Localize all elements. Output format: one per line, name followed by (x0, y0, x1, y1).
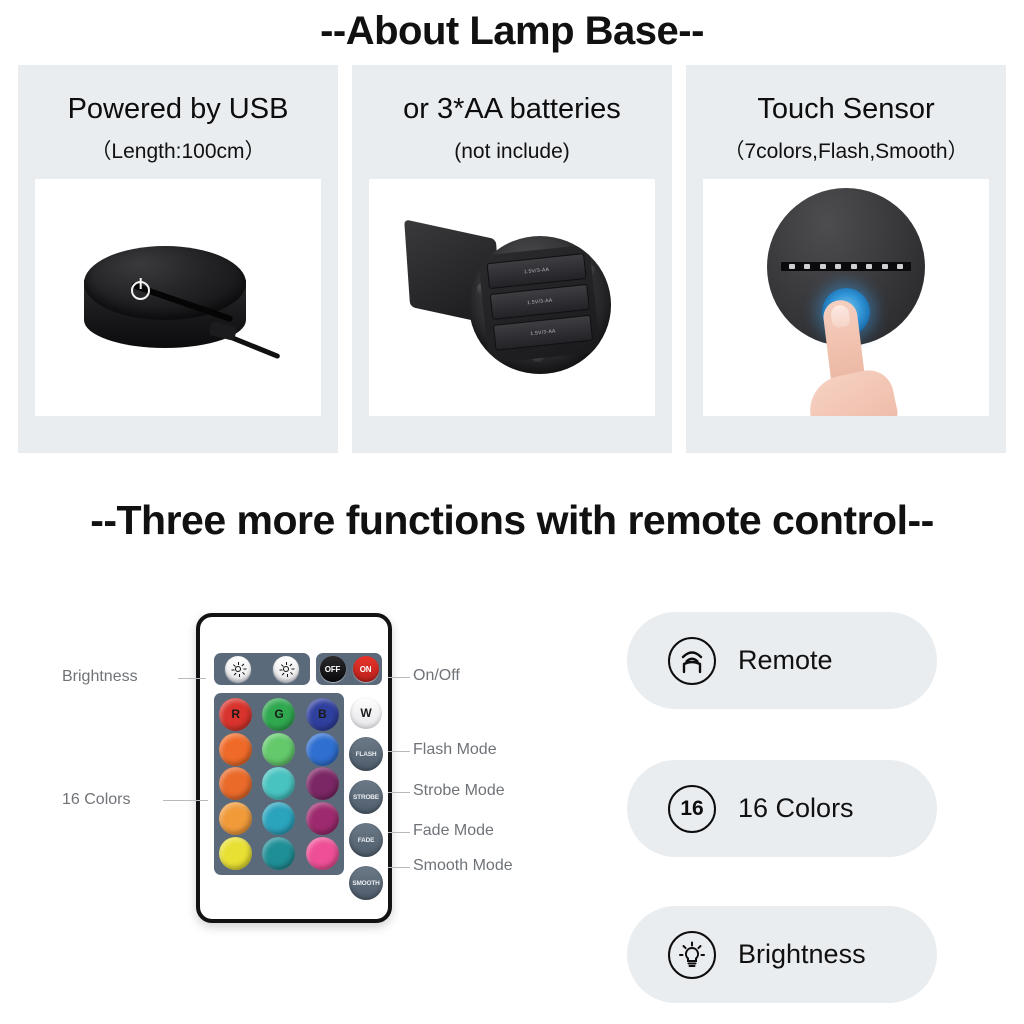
color-button-12[interactable] (219, 837, 252, 870)
remote-signal-icon (668, 637, 716, 685)
panel-powered-by-usb: Powered by USB （Length:100cm） (18, 65, 338, 453)
led-chip-icon (882, 264, 888, 269)
color-button-6[interactable] (219, 767, 252, 800)
color-button-10[interactable] (262, 802, 295, 835)
power-button-pad: OFF ON (316, 653, 382, 685)
feature-pill-16-colors[interactable]: 16 16 Colors (627, 760, 937, 857)
led-chip-icon (804, 264, 810, 269)
callout-smooth-mode: Smooth Mode (413, 857, 513, 875)
callout-strobe-mode: Strobe Mode (413, 782, 505, 800)
color-button-3[interactable] (219, 733, 252, 766)
touch-sensor-photo (703, 179, 989, 416)
color-button-13[interactable] (262, 837, 295, 870)
flash-mode-button[interactable]: FLASH (349, 737, 383, 771)
lamp-base-usb-photo (35, 179, 321, 416)
strobe-mode-button[interactable]: STROBE (349, 780, 383, 814)
panel-subtitle: （7colors,Flash,Smooth） (723, 141, 968, 162)
color-button-4[interactable] (262, 733, 295, 766)
color-button-grid: RGB (214, 693, 344, 875)
feature-pill-label: 16 Colors (738, 793, 854, 824)
battery-slot: 1.5V/3-AA (493, 314, 593, 350)
panel-title: Touch Sensor (757, 95, 934, 124)
feature-pill-label: Brightness (738, 939, 866, 970)
callout-brightness: Brightness (62, 668, 138, 686)
panel-aa-batteries: or 3*AA batteries (not include) 1.5V/3-A… (352, 65, 672, 453)
leader-line (388, 751, 410, 752)
lightbulb-icon (668, 931, 716, 979)
sun-bright-icon (232, 663, 245, 676)
callout-on-off: On/Off (413, 667, 460, 685)
callout-16-colors: 16 Colors (62, 791, 130, 809)
color-button-7[interactable] (262, 767, 295, 800)
leader-line (178, 678, 206, 679)
fingernail (830, 304, 851, 328)
section-title-remote-functions: --Three more functions with remote contr… (0, 497, 1024, 544)
hand-illustration (804, 366, 901, 416)
battery-slot: 1.5V/3-AA (490, 283, 590, 319)
panel-subtitle: （Length:100cm） (90, 141, 265, 162)
color-button-14[interactable] (306, 837, 339, 870)
led-chip-icon (820, 264, 826, 269)
color-button-b[interactable]: B (306, 698, 339, 731)
battery-compartment-photo: 1.5V/3-AA 1.5V/3-AA 1.5V/3-AA (369, 179, 655, 416)
leader-line (163, 800, 208, 801)
brightness-up-button[interactable] (225, 656, 251, 682)
led-chip-icon (835, 264, 841, 269)
page-title-about-lamp-base: --About Lamp Base-- (0, 9, 1024, 54)
color-button-8[interactable] (306, 767, 339, 800)
power-icon (131, 281, 150, 300)
panel-title: Powered by USB (68, 95, 289, 124)
callout-flash-mode: Flash Mode (413, 741, 497, 759)
led-strip-slot (781, 262, 911, 271)
leader-line (388, 792, 410, 793)
lamp-base-top (84, 246, 246, 320)
off-button[interactable]: OFF (320, 656, 346, 682)
battery-bay: 1.5V/3-AA 1.5V/3-AA 1.5V/3-AA (478, 244, 601, 363)
leader-line (388, 832, 410, 833)
white-color-button[interactable]: W (350, 697, 382, 729)
battery-slot: 1.5V/3-AA (486, 253, 586, 289)
color-button-5[interactable] (306, 733, 339, 766)
sun-dim-icon (280, 663, 293, 676)
sixteen-badge-number: 16 (680, 797, 703, 821)
color-button-r[interactable]: R (219, 698, 252, 731)
sixteen-badge-icon: 16 (668, 785, 716, 833)
smooth-mode-button[interactable]: SMOOTH (349, 866, 383, 900)
brightness-button-pad (214, 653, 310, 685)
panel-title: or 3*AA batteries (403, 95, 621, 124)
on-button[interactable]: ON (353, 656, 379, 682)
led-chip-icon (866, 264, 872, 269)
color-button-g[interactable]: G (262, 698, 295, 731)
led-chip-icon (789, 264, 795, 269)
led-chip-icon (851, 264, 857, 269)
fade-mode-button[interactable]: FADE (349, 823, 383, 857)
leader-line (388, 867, 410, 868)
brightness-down-button[interactable] (273, 656, 299, 682)
callout-fade-mode: Fade Mode (413, 822, 494, 840)
color-button-9[interactable] (219, 802, 252, 835)
battery-base-disc: 1.5V/3-AA 1.5V/3-AA 1.5V/3-AA (469, 236, 611, 374)
remote-control[interactable]: OFF ON RGB W FLASH STROBE FADE SMOOTH (196, 613, 392, 923)
color-button-11[interactable] (306, 802, 339, 835)
led-chip-icon (897, 264, 903, 269)
panel-subtitle: (not include) (454, 141, 570, 162)
feature-pill-brightness[interactable]: Brightness (627, 906, 937, 1003)
leader-line (388, 677, 410, 678)
lamp-base-panels: Powered by USB （Length:100cm） or 3*AA ba… (18, 65, 1006, 453)
feature-pill-label: Remote (738, 645, 833, 676)
panel-touch-sensor: Touch Sensor （7colors,Flash,Smooth） (686, 65, 1006, 453)
feature-pill-remote[interactable]: Remote (627, 612, 937, 709)
